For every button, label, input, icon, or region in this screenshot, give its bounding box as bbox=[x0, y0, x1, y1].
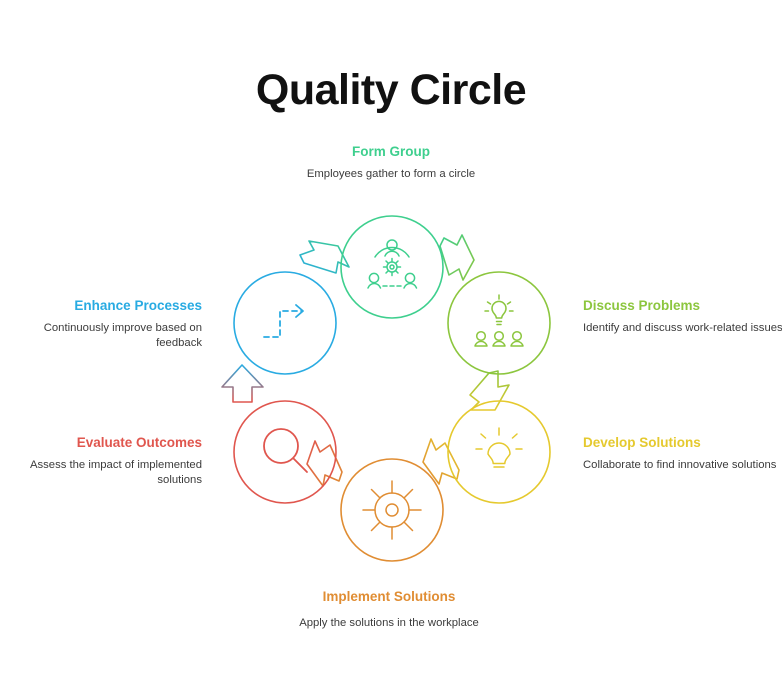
step-desc-form-group: Employees gather to form a circle bbox=[291, 167, 491, 182]
step-circle-discuss-problems[interactable] bbox=[448, 272, 550, 374]
quality-circle-diagram bbox=[212, 205, 572, 575]
step-label-enhance-processes: Enhance Processes Continuously improve b… bbox=[2, 297, 202, 350]
magnifier-icon bbox=[264, 429, 307, 472]
step-title-evaluate-outcomes: Evaluate Outcomes bbox=[2, 434, 202, 452]
step-circle-enhance-processes[interactable] bbox=[234, 272, 336, 374]
step-label-evaluate-outcomes: Evaluate Outcomes Assess the impact of i… bbox=[2, 434, 202, 487]
dashed-step-arrow-icon bbox=[264, 305, 303, 337]
arrow-green-to-olive bbox=[440, 235, 474, 280]
arrow-yellow-to-orange bbox=[423, 439, 459, 484]
lightbulb-icon bbox=[476, 428, 522, 467]
arrow-olive-to-yellow bbox=[470, 371, 509, 410]
step-desc-evaluate-outcomes: Assess the impact of implemented solutio… bbox=[2, 458, 202, 487]
step-circle-implement-solutions[interactable] bbox=[341, 459, 443, 561]
step-label-form-group: Form Group Employees gather to form a ci… bbox=[291, 143, 491, 182]
step-desc-enhance-processes: Continuously improve based on feedback bbox=[2, 321, 202, 350]
arrow-orange-to-red bbox=[307, 441, 342, 486]
step-title-implement-solutions: Implement Solutions bbox=[289, 588, 489, 606]
step-circle-form-group[interactable] bbox=[341, 216, 443, 318]
gear-sun-icon bbox=[363, 481, 421, 539]
step-desc-implement-solutions: Apply the solutions in the workplace bbox=[289, 616, 489, 631]
step-desc-discuss-problems: Identify and discuss work-related issues bbox=[583, 321, 782, 336]
step-label-develop-solutions: Develop Solutions Collaborate to find in… bbox=[583, 434, 782, 473]
people-gear-icon bbox=[368, 240, 417, 288]
step-title-discuss-problems: Discuss Problems bbox=[583, 297, 782, 315]
step-title-enhance-processes: Enhance Processes bbox=[2, 297, 202, 315]
step-desc-develop-solutions: Collaborate to find innovative solutions bbox=[583, 458, 782, 473]
lightbulb-group-icon bbox=[475, 295, 523, 346]
step-title-form-group: Form Group bbox=[291, 143, 491, 161]
step-circle-develop-solutions[interactable] bbox=[448, 401, 550, 503]
step-title-develop-solutions: Develop Solutions bbox=[583, 434, 782, 452]
step-label-implement-solutions: Implement Solutions Apply the solutions … bbox=[289, 588, 489, 631]
page-title: Quality Circle bbox=[0, 66, 782, 115]
arrow-red-to-blue bbox=[222, 365, 263, 402]
step-label-discuss-problems: Discuss Problems Identify and discuss wo… bbox=[583, 297, 782, 336]
